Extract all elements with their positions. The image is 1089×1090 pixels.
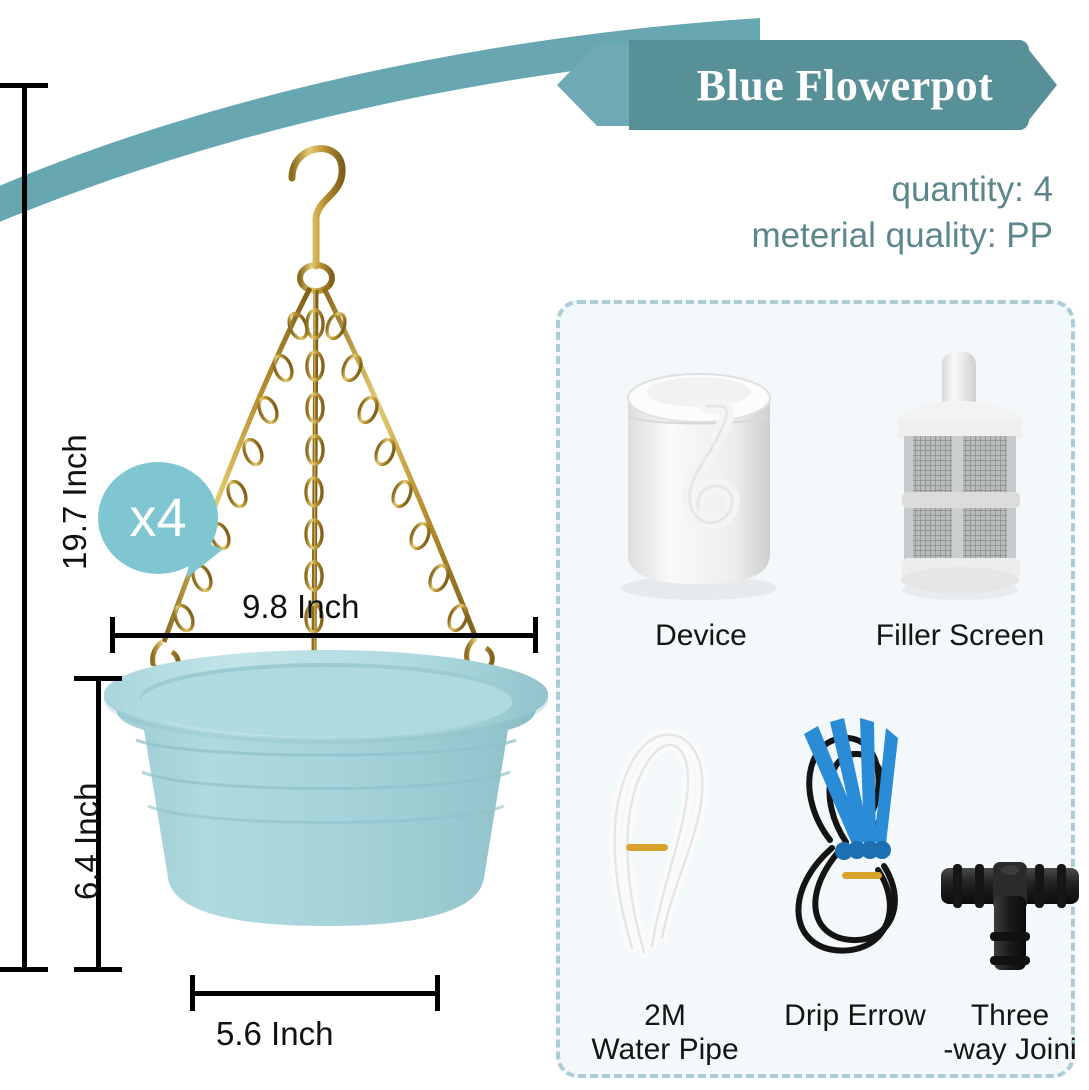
quantity-badge: x4: [98, 462, 218, 574]
filler-screen-image: [860, 340, 1060, 615]
accessory-filler-screen-label: Filler Screen: [860, 619, 1060, 653]
title-banner: Blue Flowerpot: [557, 40, 1057, 130]
drip-arrow-image: [760, 700, 950, 995]
dimlabel-pot-height: 6.4 Inch: [68, 783, 106, 900]
dimcap-total-height-bottom: [0, 967, 48, 972]
dimcap-base-left: [190, 975, 195, 1011]
dimcap-pot-height-bottom: [74, 967, 122, 972]
dimcap-base-right: [435, 975, 440, 1011]
dimcap-rim-right: [533, 617, 538, 653]
device-image: [586, 340, 816, 615]
dimcap-total-height-top: [0, 83, 48, 88]
dimcap-pot-height-top: [74, 676, 122, 681]
infographic-canvas: Blue Flowerpot quantity: 4 meterial qual…: [0, 0, 1089, 1090]
flowerpot-illustration: [96, 648, 556, 978]
accessory-device: Device: [586, 340, 816, 653]
three-way-joint-image: [935, 700, 1085, 995]
dimline-rim-diameter: [110, 633, 538, 638]
accessory-drip-arrow-label: Drip Errow: [760, 999, 950, 1033]
accessory-water-pipe-label: 2M Water Pipe: [570, 999, 760, 1066]
dimlabel-total-height: 19.7 Inch: [56, 434, 94, 570]
dimcap-rim-left: [110, 617, 115, 653]
dimlabel-rim-diameter: 9.8 Inch: [242, 588, 359, 626]
accessory-water-pipe: 2M Water Pipe: [570, 700, 760, 1066]
accessory-device-label: Device: [586, 619, 816, 653]
page-title: Blue Flowerpot: [645, 40, 1045, 130]
dimline-base-diameter: [190, 991, 440, 996]
spec-quantity: quantity: 4: [892, 168, 1054, 213]
accessory-drip-arrow: Drip Errow: [760, 700, 950, 1033]
accessory-three-way-joint: Three -way Joini: [935, 700, 1085, 1066]
dimlabel-base-diameter: 5.6 Inch: [216, 1015, 333, 1053]
water-pipe-image: [570, 700, 760, 995]
spec-material: meterial quality: PP: [751, 214, 1053, 259]
accessory-three-way-joint-label: Three -way Joini: [935, 999, 1085, 1066]
accessory-filler-screen: Filler Screen: [860, 340, 1060, 653]
dimline-total-height: [22, 83, 27, 972]
